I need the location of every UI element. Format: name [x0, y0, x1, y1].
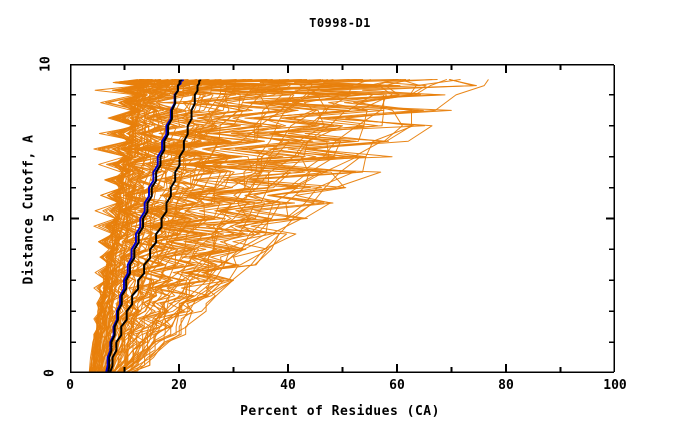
- y-tick-5: 5: [43, 214, 58, 222]
- x-tick-80: 80: [498, 378, 514, 393]
- y-tick-0: 0: [43, 369, 58, 377]
- x-tick-0: 0: [66, 378, 74, 393]
- chart-root: T0998-D1 0 20 40 60 80 100 0 5 10 Percen…: [0, 0, 680, 440]
- y-axis-label: Distance Cutoff, A: [22, 90, 37, 330]
- page-title: T0998-D1: [0, 16, 680, 30]
- x-tick-100: 100: [603, 378, 626, 393]
- x-tick-40: 40: [280, 378, 296, 393]
- x-tick-20: 20: [171, 378, 187, 393]
- y-tick-10: 10: [39, 56, 54, 72]
- plot-frame: [70, 64, 615, 373]
- plot-area: [70, 64, 615, 373]
- x-tick-60: 60: [389, 378, 405, 393]
- x-axis-label: Percent of Residues (CA): [0, 404, 680, 419]
